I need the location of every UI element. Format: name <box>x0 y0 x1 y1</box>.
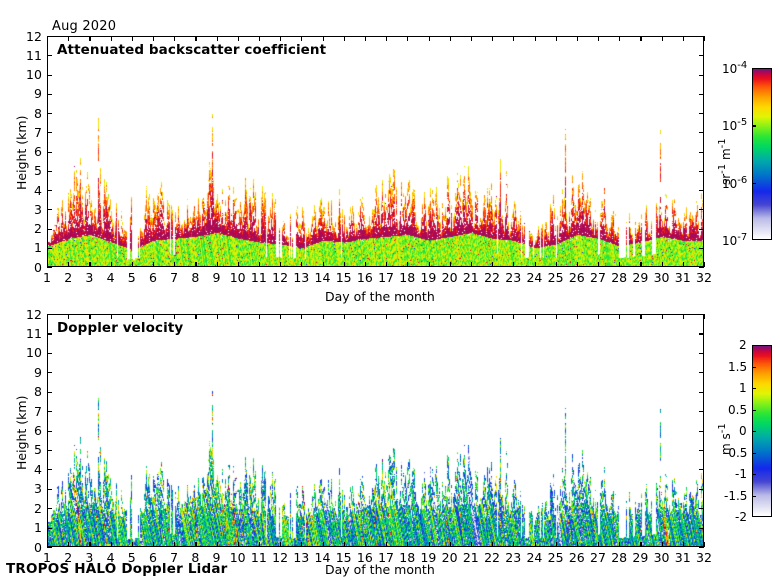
x-tick-bot-32 <box>704 542 705 547</box>
x-tick-bot-16 <box>365 542 366 547</box>
x-tick-top-bot-10 <box>238 314 239 319</box>
x-tick-label-top-16: 16 <box>357 270 373 285</box>
y-tick-right-top-4 <box>699 190 704 191</box>
x-tick-label-bot-4: 4 <box>107 550 115 565</box>
y-tick-right-top-8 <box>699 113 704 114</box>
colorbar-backscatter-tick-1: 10-5 <box>722 117 747 133</box>
x-tick-label-top-21: 21 <box>463 270 479 285</box>
x-tick-bot-14 <box>323 542 324 547</box>
x-tick-bot-13 <box>301 542 302 547</box>
x-tick-top-13 <box>301 262 302 267</box>
x-tick-label-bot-6: 6 <box>149 550 157 565</box>
panel-backscatter-title: Attenuated backscatter coefficient <box>57 42 326 58</box>
y-tick-label-bot-0: 0 <box>34 540 42 555</box>
x-tick-top-top-10 <box>238 36 239 41</box>
y-tick-bot-5 <box>47 450 52 451</box>
y-tick-label-top-9: 9 <box>34 86 42 101</box>
x-tick-top-28 <box>619 262 620 267</box>
x-tick-top-top-18 <box>407 36 408 41</box>
x-tick-top-27 <box>598 262 599 267</box>
x-tick-top-bot-6 <box>153 314 154 319</box>
x-tick-label-top-28: 28 <box>611 270 627 285</box>
y-tick-right-top-2 <box>699 229 704 230</box>
x-tick-label-bot-5: 5 <box>128 550 136 565</box>
y-axis-title-top: Height (km) <box>14 116 29 190</box>
x-tick-label-bot-10: 10 <box>230 550 246 565</box>
x-tick-top-24 <box>535 262 536 267</box>
y-tick-label-top-5: 5 <box>34 163 42 178</box>
y-tick-right-top-12 <box>699 36 704 37</box>
x-tick-label-top-15: 15 <box>336 270 352 285</box>
x-tick-label-top-12: 12 <box>272 270 288 285</box>
y-tick-label-top-3: 3 <box>34 202 42 217</box>
x-tick-top-top-23 <box>513 36 514 41</box>
y-tick-top-1 <box>47 248 52 249</box>
y-tick-label-bot-5: 5 <box>34 442 42 457</box>
x-tick-label-top-19: 19 <box>420 270 436 285</box>
x-tick-label-top-7: 7 <box>170 270 178 285</box>
y-tick-right-bot-3 <box>699 489 704 490</box>
x-tick-top-22 <box>492 262 493 267</box>
x-tick-label-bot-18: 18 <box>399 550 415 565</box>
x-tick-top-top-5 <box>132 36 133 41</box>
x-tick-label-bot-8: 8 <box>191 550 199 565</box>
x-tick-top-26 <box>577 262 578 267</box>
x-tick-top-bot-19 <box>429 314 430 319</box>
colorbar-doppler-tick-5: -0.5 <box>724 446 747 460</box>
x-tick-label-bot-9: 9 <box>213 550 221 565</box>
y-tick-top-9 <box>47 94 52 95</box>
x-tick-top-bot-8 <box>195 314 196 319</box>
x-tick-bot-15 <box>344 542 345 547</box>
y-tick-right-bot-11 <box>699 333 704 334</box>
y-tick-top-4 <box>47 190 52 191</box>
x-tick-label-top-11: 11 <box>251 270 267 285</box>
colorbar-doppler-tick-8: -2 <box>735 510 747 524</box>
x-tick-top-top-14 <box>323 36 324 41</box>
x-tick-top-top-2 <box>68 36 69 41</box>
y-tick-label-top-10: 10 <box>26 67 42 82</box>
x-tick-top-11 <box>259 262 260 267</box>
y-tick-right-top-5 <box>699 171 704 172</box>
y-tick-right-top-0 <box>699 267 704 268</box>
x-tick-bot-28 <box>619 542 620 547</box>
y-tick-right-bot-8 <box>699 392 704 393</box>
x-tick-top-bot-3 <box>89 314 90 319</box>
y-tick-bot-11 <box>47 333 52 334</box>
x-tick-label-top-23: 23 <box>505 270 521 285</box>
x-tick-label-bot-25: 25 <box>548 550 564 565</box>
x-tick-label-bot-1: 1 <box>43 550 51 565</box>
x-tick-top-bot-13 <box>301 314 302 319</box>
y-tick-label-top-12: 12 <box>26 29 42 44</box>
x-tick-label-bot-14: 14 <box>315 550 331 565</box>
x-tick-top-top-19 <box>429 36 430 41</box>
colorbar-doppler-tickmark-4 <box>752 431 756 432</box>
x-tick-label-bot-7: 7 <box>170 550 178 565</box>
x-tick-top-10 <box>238 262 239 267</box>
x-tick-label-bot-30: 30 <box>654 550 670 565</box>
x-tick-top-top-28 <box>619 36 620 41</box>
x-tick-bot-19 <box>429 542 430 547</box>
y-tick-bot-6 <box>47 431 52 432</box>
x-tick-top-top-21 <box>471 36 472 41</box>
y-tick-bot-2 <box>47 508 52 509</box>
x-tick-top-top-31 <box>683 36 684 41</box>
x-tick-top-bot-14 <box>323 314 324 319</box>
x-tick-label-top-1: 1 <box>43 270 51 285</box>
x-tick-top-14 <box>323 262 324 267</box>
colorbar-doppler-tick-4: 0 <box>739 424 747 438</box>
y-tick-right-top-1 <box>699 248 704 249</box>
x-tick-label-top-17: 17 <box>378 270 394 285</box>
colorbar-doppler-tick-3: 0.5 <box>728 403 747 417</box>
x-tick-bot-27 <box>598 542 599 547</box>
x-tick-top-bot-2 <box>68 314 69 319</box>
y-tick-top-7 <box>47 132 52 133</box>
x-tick-bot-9 <box>217 542 218 547</box>
x-tick-top-bot-28 <box>619 314 620 319</box>
x-tick-label-bot-28: 28 <box>611 550 627 565</box>
x-tick-top-17 <box>386 262 387 267</box>
x-tick-bot-3 <box>89 542 90 547</box>
y-tick-right-top-9 <box>699 94 704 95</box>
x-tick-top-6 <box>153 262 154 267</box>
x-tick-bot-23 <box>513 542 514 547</box>
x-tick-bot-18 <box>407 542 408 547</box>
x-tick-top-3 <box>89 262 90 267</box>
x-tick-top-25 <box>556 262 557 267</box>
x-tick-top-top-7 <box>174 36 175 41</box>
y-tick-bot-12 <box>47 314 52 315</box>
y-tick-label-top-6: 6 <box>34 144 42 159</box>
y-tick-top-12 <box>47 36 52 37</box>
x-tick-top-top-26 <box>577 36 578 41</box>
y-tick-label-top-1: 1 <box>34 240 42 255</box>
y-tick-label-bot-2: 2 <box>34 501 42 516</box>
y-tick-label-top-11: 11 <box>26 48 42 63</box>
x-tick-label-top-10: 10 <box>230 270 246 285</box>
colorbar-backscatter-tick-0: 10-4 <box>722 60 747 76</box>
x-tick-top-bot-23 <box>513 314 514 319</box>
x-tick-label-top-6: 6 <box>149 270 157 285</box>
x-tick-bot-17 <box>386 542 387 547</box>
colorbar-doppler-tickmark-1 <box>752 367 756 368</box>
y-tick-right-bot-7 <box>699 411 704 412</box>
x-tick-top-top-25 <box>556 36 557 41</box>
colorbar-doppler-tick-2: 1 <box>739 381 747 395</box>
x-tick-top-bot-12 <box>280 314 281 319</box>
x-tick-top-top-16 <box>365 36 366 41</box>
doppler-heatmap <box>48 315 704 547</box>
y-tick-bot-0 <box>47 547 52 548</box>
colorbar-backscatter-tickmark-1 <box>752 125 756 126</box>
y-tick-label-top-8: 8 <box>34 106 42 121</box>
x-tick-top-top-6 <box>153 36 154 41</box>
y-tick-right-top-10 <box>699 75 704 76</box>
x-tick-top-bot-18 <box>407 314 408 319</box>
x-tick-top-bot-25 <box>556 314 557 319</box>
x-tick-label-top-8: 8 <box>191 270 199 285</box>
x-tick-label-bot-26: 26 <box>569 550 585 565</box>
x-tick-top-bot-24 <box>535 314 536 319</box>
colorbar-doppler-tickmark-5 <box>752 453 756 454</box>
x-tick-top-4 <box>111 262 112 267</box>
x-tick-top-bot-15 <box>344 314 345 319</box>
x-tick-top-top-13 <box>301 36 302 41</box>
x-tick-top-top-15 <box>344 36 345 41</box>
y-tick-top-2 <box>47 229 52 230</box>
x-tick-top-top-17 <box>386 36 387 41</box>
x-tick-top-top-24 <box>535 36 536 41</box>
x-tick-bot-30 <box>662 542 663 547</box>
x-tick-top-top-22 <box>492 36 493 41</box>
colorbar-backscatter-tickmark-2 <box>752 183 756 184</box>
colorbar-doppler-tickmark-6 <box>752 474 756 475</box>
colorbar-backscatter <box>752 68 772 240</box>
x-tick-label-top-31: 31 <box>675 270 691 285</box>
x-tick-bot-8 <box>195 542 196 547</box>
colorbar-backscatter-tick-2: 10-6 <box>722 175 747 191</box>
x-tick-label-bot-23: 23 <box>505 550 521 565</box>
x-tick-label-bot-17: 17 <box>378 550 394 565</box>
x-tick-label-bot-16: 16 <box>357 550 373 565</box>
backscatter-heatmap <box>48 37 704 267</box>
x-tick-top-19 <box>429 262 430 267</box>
y-tick-label-bot-8: 8 <box>34 384 42 399</box>
y-tick-bot-3 <box>47 489 52 490</box>
x-tick-bot-12 <box>280 542 281 547</box>
x-tick-top-bot-30 <box>662 314 663 319</box>
x-tick-label-bot-12: 12 <box>272 550 288 565</box>
x-tick-label-top-9: 9 <box>213 270 221 285</box>
x-axis-title-top: Day of the month <box>325 289 435 304</box>
x-tick-top-18 <box>407 262 408 267</box>
colorbar-doppler-tickmark-3 <box>752 410 756 411</box>
x-tick-label-bot-13: 13 <box>293 550 309 565</box>
x-tick-top-top-27 <box>598 36 599 41</box>
month-label: Aug 2020 <box>52 19 116 34</box>
x-tick-label-bot-22: 22 <box>484 550 500 565</box>
y-tick-right-bot-0 <box>699 547 704 548</box>
y-tick-label-bot-1: 1 <box>34 520 42 535</box>
y-tick-top-0 <box>47 267 52 268</box>
x-tick-bot-20 <box>450 542 451 547</box>
y-tick-right-bot-12 <box>699 314 704 315</box>
y-tick-label-bot-3: 3 <box>34 481 42 496</box>
y-tick-right-bot-9 <box>699 372 704 373</box>
y-tick-right-top-7 <box>699 132 704 133</box>
colorbar-doppler-tickmark-0 <box>752 345 756 346</box>
colorbar-doppler-tick-1: 1.5 <box>728 360 747 374</box>
x-tick-top-15 <box>344 262 345 267</box>
x-tick-bot-26 <box>577 542 578 547</box>
colorbar-doppler-tickmark-8 <box>752 516 756 517</box>
x-tick-label-top-22: 22 <box>484 270 500 285</box>
colorbar-doppler-tickmark-2 <box>752 388 756 389</box>
x-tick-top-bot-16 <box>365 314 366 319</box>
y-tick-bot-9 <box>47 372 52 373</box>
x-tick-top-bot-5 <box>132 314 133 319</box>
x-tick-top-16 <box>365 262 366 267</box>
x-tick-bot-10 <box>238 542 239 547</box>
x-tick-label-bot-2: 2 <box>64 550 72 565</box>
lidar-figure: Aug 2020 Attenuated backscatter coeffici… <box>0 0 780 580</box>
x-tick-label-top-13: 13 <box>293 270 309 285</box>
y-tick-label-bot-9: 9 <box>34 365 42 380</box>
x-tick-top-top-29 <box>640 36 641 41</box>
x-tick-top-top-30 <box>662 36 663 41</box>
x-tick-top-top-8 <box>195 36 196 41</box>
x-tick-top-bot-27 <box>598 314 599 319</box>
x-tick-label-top-27: 27 <box>590 270 606 285</box>
x-tick-label-top-14: 14 <box>315 270 331 285</box>
x-tick-bot-31 <box>683 542 684 547</box>
x-tick-label-bot-19: 19 <box>420 550 436 565</box>
panel-doppler <box>47 314 704 547</box>
x-tick-label-top-4: 4 <box>107 270 115 285</box>
y-tick-label-top-0: 0 <box>34 260 42 275</box>
x-tick-top-top-9 <box>217 36 218 41</box>
colorbar-backscatter-tick-3: 10-7 <box>722 232 747 248</box>
y-tick-top-3 <box>47 209 52 210</box>
x-tick-bot-21 <box>471 542 472 547</box>
x-tick-top-21 <box>471 262 472 267</box>
x-tick-label-top-3: 3 <box>85 270 93 285</box>
colorbar-doppler-tick-0: 2 <box>739 338 747 352</box>
y-tick-label-bot-6: 6 <box>34 423 42 438</box>
x-tick-bot-6 <box>153 542 154 547</box>
x-tick-label-top-20: 20 <box>442 270 458 285</box>
y-tick-bot-1 <box>47 528 52 529</box>
y-tick-label-bot-11: 11 <box>26 326 42 341</box>
y-tick-right-bot-10 <box>699 353 704 354</box>
x-tick-label-top-30: 30 <box>654 270 670 285</box>
x-tick-top-bot-9 <box>217 314 218 319</box>
y-tick-top-5 <box>47 171 52 172</box>
x-tick-label-bot-29: 29 <box>632 550 648 565</box>
y-tick-right-top-6 <box>699 152 704 153</box>
x-tick-bot-4 <box>111 542 112 547</box>
x-tick-top-32 <box>704 262 705 267</box>
x-tick-label-bot-24: 24 <box>526 550 542 565</box>
x-tick-label-bot-32: 32 <box>696 550 712 565</box>
x-tick-bot-2 <box>68 542 69 547</box>
x-tick-label-bot-20: 20 <box>442 550 458 565</box>
x-tick-bot-24 <box>535 542 536 547</box>
y-tick-right-bot-1 <box>699 528 704 529</box>
x-tick-top-bot-26 <box>577 314 578 319</box>
x-tick-top-bot-17 <box>386 314 387 319</box>
y-tick-label-top-4: 4 <box>34 183 42 198</box>
x-tick-top-bot-22 <box>492 314 493 319</box>
y-tick-bot-8 <box>47 392 52 393</box>
panel-doppler-title: Doppler velocity <box>57 320 183 336</box>
x-tick-label-top-29: 29 <box>632 270 648 285</box>
x-tick-top-bot-7 <box>174 314 175 319</box>
x-tick-label-top-5: 5 <box>128 270 136 285</box>
y-tick-label-bot-12: 12 <box>26 307 42 322</box>
x-tick-bot-29 <box>640 542 641 547</box>
y-tick-right-bot-6 <box>699 431 704 432</box>
x-tick-bot-5 <box>132 542 133 547</box>
x-tick-label-top-32: 32 <box>696 270 712 285</box>
x-tick-label-bot-15: 15 <box>336 550 352 565</box>
y-tick-right-bot-2 <box>699 508 704 509</box>
x-tick-top-top-3 <box>89 36 90 41</box>
x-tick-bot-11 <box>259 542 260 547</box>
x-tick-top-20 <box>450 262 451 267</box>
x-tick-top-top-20 <box>450 36 451 41</box>
x-tick-label-bot-11: 11 <box>251 550 267 565</box>
y-tick-label-bot-7: 7 <box>34 404 42 419</box>
x-tick-bot-7 <box>174 542 175 547</box>
y-tick-bot-4 <box>47 469 52 470</box>
colorbar-doppler-tickmark-7 <box>752 496 756 497</box>
x-tick-label-top-26: 26 <box>569 270 585 285</box>
y-tick-right-bot-4 <box>699 469 704 470</box>
y-tick-right-bot-5 <box>699 450 704 451</box>
x-tick-top-30 <box>662 262 663 267</box>
y-tick-label-bot-10: 10 <box>26 345 42 360</box>
y-tick-bot-10 <box>47 353 52 354</box>
x-tick-top-bot-4 <box>111 314 112 319</box>
y-tick-top-6 <box>47 152 52 153</box>
y-tick-label-top-2: 2 <box>34 221 42 236</box>
colorbar-doppler-tick-6: -1 <box>735 467 747 481</box>
x-tick-top-top-4 <box>111 36 112 41</box>
y-tick-label-top-7: 7 <box>34 125 42 140</box>
x-tick-label-top-25: 25 <box>548 270 564 285</box>
x-tick-label-top-2: 2 <box>64 270 72 285</box>
x-tick-top-bot-11 <box>259 314 260 319</box>
colorbar-backscatter-tickmark-3 <box>752 239 756 240</box>
x-tick-top-bot-31 <box>683 314 684 319</box>
x-tick-top-12 <box>280 262 281 267</box>
y-tick-right-top-11 <box>699 55 704 56</box>
x-tick-top-top-32 <box>704 36 705 41</box>
colorbar-doppler-tick-7: -1.5 <box>724 489 747 503</box>
y-axis-title-bottom: Height (km) <box>14 396 29 470</box>
y-tick-label-bot-4: 4 <box>34 462 42 477</box>
x-tick-top-top-11 <box>259 36 260 41</box>
x-tick-top-8 <box>195 262 196 267</box>
y-tick-bot-7 <box>47 411 52 412</box>
y-tick-top-10 <box>47 75 52 76</box>
x-tick-label-bot-31: 31 <box>675 550 691 565</box>
x-tick-top-bot-21 <box>471 314 472 319</box>
x-tick-label-top-18: 18 <box>399 270 415 285</box>
x-tick-top-top-12 <box>280 36 281 41</box>
x-tick-top-23 <box>513 262 514 267</box>
x-tick-top-2 <box>68 262 69 267</box>
x-tick-bot-25 <box>556 542 557 547</box>
x-tick-label-bot-21: 21 <box>463 550 479 565</box>
x-tick-top-bot-20 <box>450 314 451 319</box>
panel-backscatter <box>47 36 704 267</box>
x-tick-label-bot-3: 3 <box>85 550 93 565</box>
x-tick-top-bot-29 <box>640 314 641 319</box>
colorbar-backscatter-tickmark-0 <box>752 68 756 69</box>
x-tick-top-7 <box>174 262 175 267</box>
colorbar-backscatter-gradient <box>753 69 771 239</box>
x-tick-top-5 <box>132 262 133 267</box>
x-tick-top-bot-32 <box>704 314 705 319</box>
y-tick-top-8 <box>47 113 52 114</box>
x-tick-label-bot-27: 27 <box>590 550 606 565</box>
x-tick-label-top-24: 24 <box>526 270 542 285</box>
x-tick-bot-22 <box>492 542 493 547</box>
